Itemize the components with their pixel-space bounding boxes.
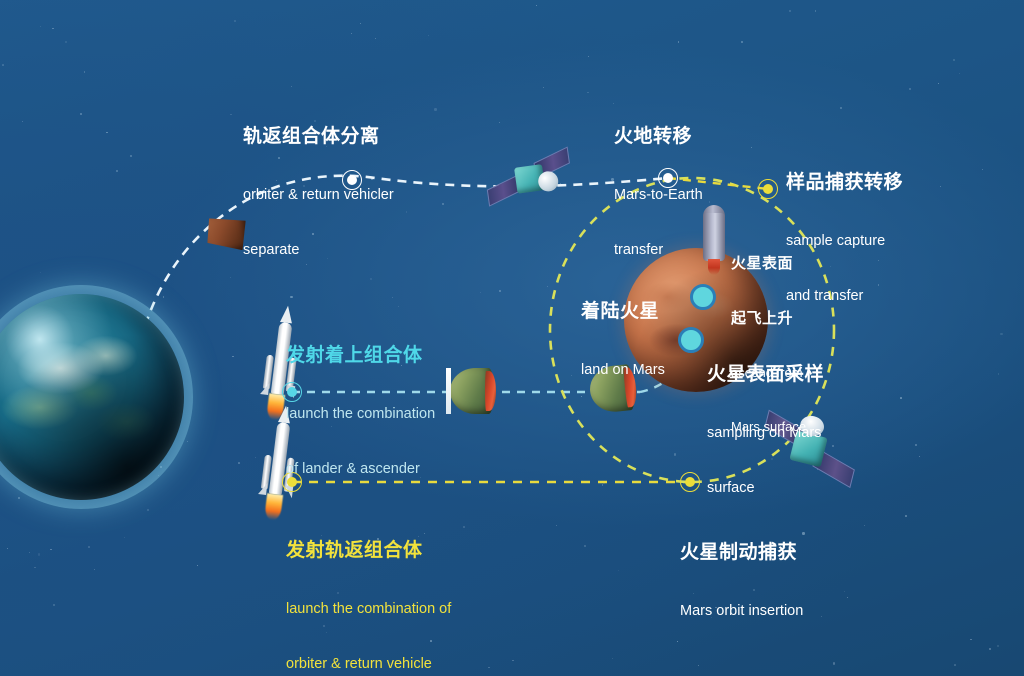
- separation-marker-bar: [446, 368, 451, 414]
- label-en-1: launch the combination of: [286, 601, 451, 618]
- label-en-1: Mars orbit insertion: [680, 603, 803, 620]
- label-cn: 火星制动捕获: [680, 542, 803, 564]
- label-mars-to-earth-transfer: 火地转移 Mars-to-Earth transfer: [614, 90, 703, 295]
- label-cn: 火星表面采样: [707, 364, 824, 386]
- label-cn-2: 起飞上升: [731, 310, 806, 328]
- label-en-2: orbiter & return vehicle: [286, 656, 451, 673]
- label-cn: 着陆火星: [581, 301, 665, 323]
- label-en-2: transfer: [614, 242, 703, 259]
- label-en-1: sampling on Mars: [707, 425, 824, 442]
- label-cn: 样品捕获转移: [786, 172, 903, 194]
- label-en-2: of lander & ascender: [286, 461, 435, 478]
- label-sampling-on-mars-surface: 火星表面采样 sampling on Mars surface: [707, 328, 824, 533]
- entry-capsule-cruise: [450, 368, 494, 414]
- label-mars-orbit-insertion: 火星制动捕获 Mars orbit insertion: [680, 506, 803, 656]
- label-en-1: launch the combination: [286, 406, 435, 423]
- orbiter-spacecraft-transfer: [482, 144, 576, 217]
- label-en-2: surface: [707, 480, 824, 497]
- earth-globe: [0, 294, 184, 500]
- label-launch-orbiter-return: 发射轨返组合体 launch the combination of orbite…: [286, 504, 451, 676]
- label-land-on-mars: 着陆火星 land on Mars: [581, 265, 665, 415]
- label-orbiter-return-separate: 轨返组合体分离 orbiter & return vehicler separa…: [243, 90, 394, 295]
- label-cn-1: 火星表面: [731, 255, 806, 273]
- label-en-1: land on Mars: [581, 362, 665, 379]
- node-mars-orbit-insertion[interactable]: [680, 472, 700, 492]
- mars-ascent-vehicle: [703, 205, 725, 267]
- node-sample-capture-transfer[interactable]: [758, 179, 778, 199]
- label-en-1: orbiter & return vehicler: [243, 187, 394, 204]
- label-en-1: Mars-to-Earth: [614, 187, 703, 204]
- label-launch-lander-ascender: 发射着上组合体 launch the combination of lander…: [286, 309, 435, 514]
- mission-diagram: 轨返组合体分离 orbiter & return vehicler separa…: [0, 0, 1024, 676]
- label-cn: 火地转移: [614, 126, 703, 148]
- label-cn: 轨返组合体分离: [243, 126, 394, 148]
- mars-sampling-site-marker: [678, 327, 704, 353]
- label-cn: 发射轨返组合体: [286, 540, 451, 562]
- label-cn: 发射着上组合体: [286, 345, 435, 367]
- label-en-2: separate: [243, 242, 394, 259]
